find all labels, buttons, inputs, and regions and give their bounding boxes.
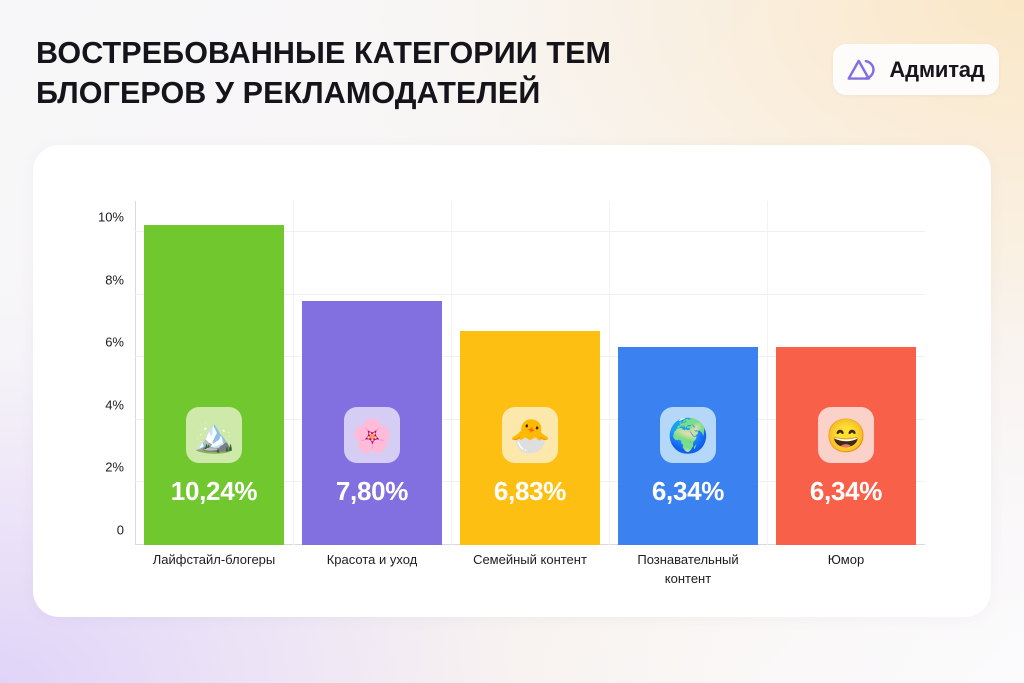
y-tick-label: 4% [105, 397, 124, 412]
bar-slot: 🌍 6,34% [609, 201, 767, 545]
bar-humor[interactable]: 😄 6,34% [776, 347, 916, 545]
globe-icon: 🌍 [660, 407, 716, 463]
bar-slot: 🏔️ 10,24% [135, 201, 293, 545]
header: ВОСТРЕБОВАННЫЕ КАТЕГОРИИ ТЕМ БЛОГЕРОВ У … [0, 0, 1024, 140]
bar-value-label: 10,24% [171, 476, 257, 507]
bar-slot: 😄 6,34% [767, 201, 925, 545]
page-title: ВОСТРЕБОВАННЫЕ КАТЕГОРИИ ТЕМ БЛОГЕРОВ У … [36, 34, 776, 114]
mountain-icon: 🏔️ [186, 407, 242, 463]
grinning-face-icon: 😄 [818, 407, 874, 463]
y-tick-label: 8% [105, 272, 124, 287]
hatching-chick-icon: 🐣 [502, 407, 558, 463]
bar-slot: 🐣 6,83% [451, 201, 609, 545]
bar-value-label: 6,34% [652, 476, 724, 507]
cherry-blossom-icon: 🌸 [344, 407, 400, 463]
bar-series: 🏔️ 10,24% 🌸 7,80% 🐣 6,83% [135, 201, 925, 545]
x-tick-label: Семейный контент [451, 551, 609, 589]
plot-area: 10% 8% 6% 4% 2% 0 🏔️ 10,24% 🌸 [135, 201, 925, 545]
bar-family[interactable]: 🐣 6,83% [460, 331, 600, 545]
y-tick-label: 2% [105, 460, 124, 475]
x-axis-labels: Лайфстайл-блогеры Красота и уход Семейны… [135, 551, 925, 589]
bar-slot: 🌸 7,80% [293, 201, 451, 545]
admitad-logo-text: Адмитад [889, 59, 984, 81]
x-tick-label: Юмор [767, 551, 925, 589]
bar-beauty[interactable]: 🌸 7,80% [302, 301, 442, 545]
poster: ВОСТРЕБОВАННЫЕ КАТЕГОРИИ ТЕМ БЛОГЕРОВ У … [0, 0, 1024, 683]
x-tick-label: Познавательный контент [609, 551, 767, 589]
bar-lifestyle[interactable]: 🏔️ 10,24% [144, 225, 284, 545]
chart-card: 10% 8% 6% 4% 2% 0 🏔️ 10,24% 🌸 [33, 145, 991, 617]
bar-educational[interactable]: 🌍 6,34% [618, 347, 758, 545]
bar-value-label: 6,83% [494, 476, 566, 507]
x-tick-label: Лайфстайл-блогеры [135, 551, 293, 589]
y-tick-label: 6% [105, 335, 124, 350]
x-tick-label: Красота и уход [293, 551, 451, 589]
y-tick-label: 10% [98, 210, 124, 225]
admitad-logo: Адмитад [833, 44, 999, 95]
bar-value-label: 6,34% [810, 476, 882, 507]
y-tick-label: 0 [117, 523, 124, 538]
admitad-logo-mark-icon [847, 59, 880, 80]
bar-value-label: 7,80% [336, 476, 408, 507]
bar-chart: 10% 8% 6% 4% 2% 0 🏔️ 10,24% 🌸 [33, 145, 991, 617]
